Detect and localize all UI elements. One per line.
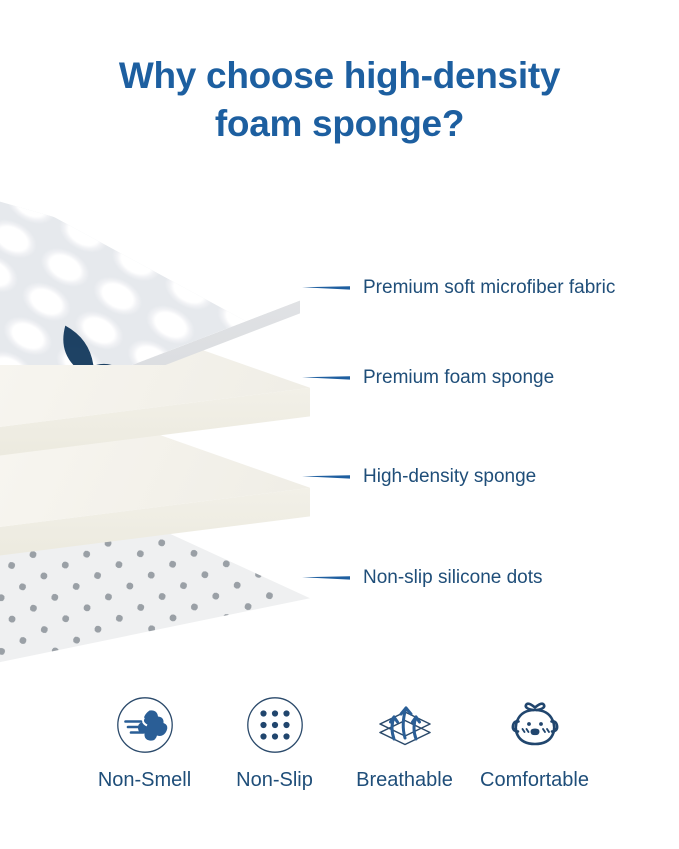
feature-breathable: Breathable <box>340 694 470 792</box>
feature-non-slip: Non-Slip <box>210 694 340 792</box>
callout-high-density: High-density sponge <box>302 466 536 488</box>
callout-premium-foam: Premium foam sponge <box>302 367 554 389</box>
callout-label-silicone-dots: Non-slip silicone dots <box>363 567 543 589</box>
baby-face-icon <box>506 694 564 756</box>
feature-label-non-slip: Non-Slip <box>236 768 313 792</box>
callout-label-fabric: Premium soft microfiber fabric <box>363 277 615 299</box>
dot-grid-icon <box>246 694 304 756</box>
leader-line-icon <box>302 573 350 583</box>
callout-fabric: Premium soft microfiber fabric <box>302 277 615 299</box>
feature-label-non-smell: Non-Smell <box>98 768 191 792</box>
leader-line-icon <box>302 472 350 482</box>
feature-comfortable: Comfortable <box>470 694 600 792</box>
callout-label-high-density: High-density sponge <box>363 466 536 488</box>
feature-label-comfortable: Comfortable <box>480 768 589 792</box>
quilting-pattern <box>0 150 300 365</box>
leader-line-icon <box>302 283 350 293</box>
callout-label-premium-foam: Premium foam sponge <box>363 367 554 389</box>
callout-silicone-dots: Non-slip silicone dots <box>302 567 543 589</box>
feature-row: Non-Smell Non-Slip <box>0 694 679 792</box>
fabric-face <box>0 150 300 365</box>
exploded-mattress-diagram <box>0 0 679 700</box>
airflow-layers-icon <box>373 694 437 756</box>
odor-wave-icon <box>116 694 174 756</box>
layer-microfiber-fabric <box>0 150 300 365</box>
leader-line-icon <box>302 373 350 383</box>
feature-label-breathable: Breathable <box>356 768 453 792</box>
feature-non-smell: Non-Smell <box>80 694 210 792</box>
